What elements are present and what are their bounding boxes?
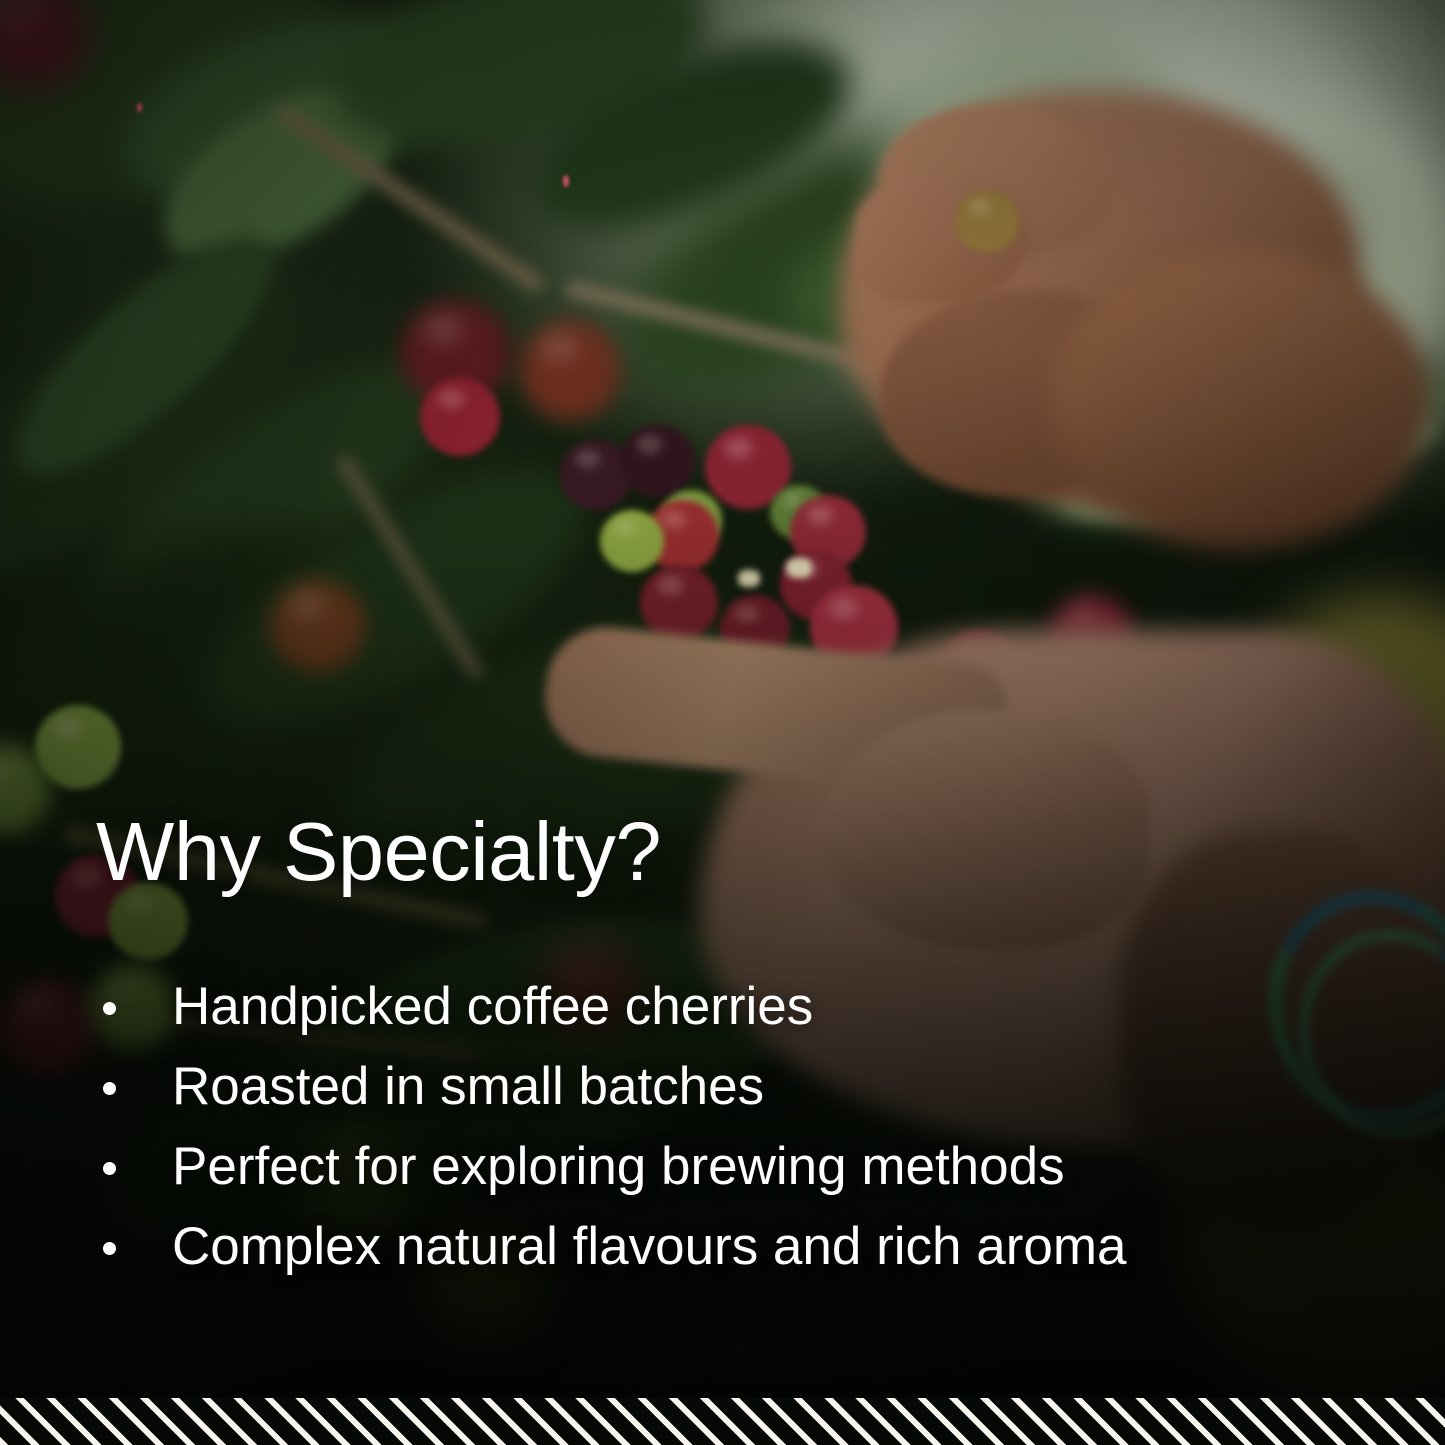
list-item: Roasted in small batches	[96, 1047, 1325, 1127]
feature-list: Handpicked coffee cherries Roasted in sm…	[96, 967, 1325, 1287]
coffee-cherry	[600, 510, 664, 572]
bullet-dot-icon	[103, 1242, 116, 1255]
list-item-label: Handpicked coffee cherries	[172, 977, 813, 1036]
list-item: Handpicked coffee cherries	[96, 967, 1325, 1047]
coffee-cherry	[270, 580, 365, 672]
text-content-block: Why Specialty? Handpicked coffee cherrie…	[96, 810, 1325, 1287]
coffee-cherry	[620, 425, 695, 497]
slide-canvas: Why Specialty? Handpicked coffee cherrie…	[0, 0, 1445, 1445]
footer-stripe-pattern	[0, 1398, 1445, 1445]
list-item: Perfect for exploring brewing methods	[96, 1127, 1325, 1207]
list-item-label: Roasted in small batches	[172, 1057, 764, 1116]
blossom-remnant	[738, 570, 760, 587]
light-speck	[137, 103, 142, 112]
coffee-cherry	[520, 320, 620, 420]
bullet-dot-icon	[103, 1162, 116, 1175]
page-title: Why Specialty?	[96, 810, 1325, 893]
coffee-cherry	[640, 565, 718, 641]
light-speck	[563, 175, 569, 187]
list-item: Complex natural flavours and rich aroma	[96, 1207, 1325, 1287]
bullet-dot-icon	[103, 1002, 116, 1015]
blossom-remnant	[786, 558, 812, 578]
list-item-label: Complex natural flavours and rich aroma	[172, 1217, 1126, 1276]
list-item-label: Perfect for exploring brewing methods	[172, 1137, 1065, 1196]
coffee-cherry	[420, 378, 500, 456]
coffee-cherry	[0, 980, 96, 1074]
bullet-dot-icon	[103, 1082, 116, 1095]
held-cherry	[955, 190, 1019, 252]
hand-palm-shadow	[1050, 250, 1430, 550]
light-speck	[736, 1345, 743, 1352]
